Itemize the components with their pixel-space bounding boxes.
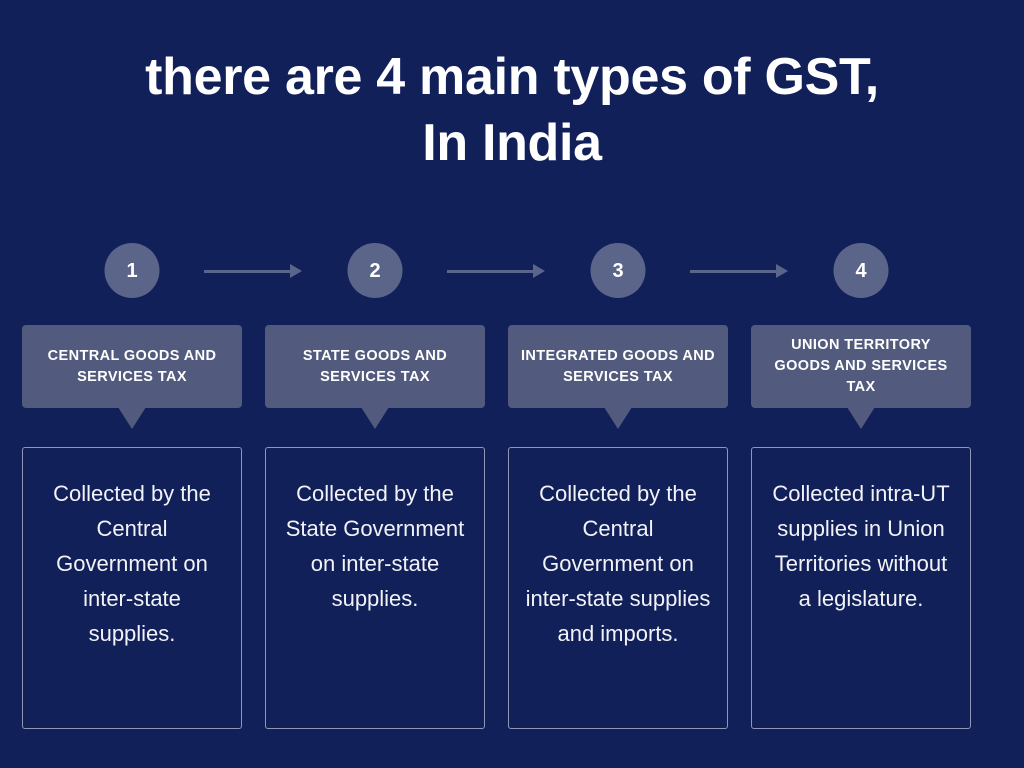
steps-row: 1 2 3 4	[22, 243, 971, 299]
card-body-text-1: Collected by the Central Government on i…	[37, 476, 227, 651]
card-header-1: CENTRAL GOODS AND SERVICES TAX	[22, 325, 242, 408]
column-state-gst: STATE GOODS AND SERVICES TAX Collected b…	[265, 325, 485, 408]
card-header-4: UNION TERRITORY GOODS AND SERVICES TAX	[751, 325, 971, 408]
title-line-2: In India	[60, 110, 964, 176]
step-circle-3: 3	[591, 243, 646, 298]
card-body-text-2: Collected by the State Government on int…	[280, 476, 470, 616]
step-circle-4: 4	[834, 243, 889, 298]
card-header-label-1: CENTRAL GOODS AND SERVICES TAX	[34, 346, 230, 388]
column-union-territory-gst: UNION TERRITORY GOODS AND SERVICES TAX C…	[751, 325, 971, 408]
card-tail-icon-1	[118, 407, 146, 429]
card-tail-icon-3	[604, 407, 632, 429]
title-line-1: there are 4 main types of GST,	[60, 44, 964, 110]
card-header-label-4: UNION TERRITORY GOODS AND SERVICES TAX	[763, 335, 959, 398]
card-header-3: INTEGRATED GOODS AND SERVICES TAX	[508, 325, 728, 408]
page-title: there are 4 main types of GST, In India	[0, 44, 1024, 176]
column-integrated-gst: INTEGRATED GOODS AND SERVICES TAX Collec…	[508, 325, 728, 408]
card-tail-icon-4	[847, 407, 875, 429]
columns-container: CENTRAL GOODS AND SERVICES TAX Collected…	[22, 325, 971, 729]
column-central-gst: CENTRAL GOODS AND SERVICES TAX Collected…	[22, 325, 242, 408]
card-body-4: Collected intra-UT supplies in Union Ter…	[751, 447, 971, 729]
card-tail-icon-2	[361, 407, 389, 429]
card-body-2: Collected by the State Government on int…	[265, 447, 485, 729]
card-body-1: Collected by the Central Government on i…	[22, 447, 242, 729]
card-body-3: Collected by the Central Government on i…	[508, 447, 728, 729]
card-header-label-3: INTEGRATED GOODS AND SERVICES TAX	[520, 346, 716, 388]
card-header-label-2: STATE GOODS AND SERVICES TAX	[277, 346, 473, 388]
step-circle-1: 1	[105, 243, 160, 298]
infographic-canvas: there are 4 main types of GST, In India …	[0, 0, 1024, 768]
card-header-2: STATE GOODS AND SERVICES TAX	[265, 325, 485, 408]
card-body-text-3: Collected by the Central Government on i…	[523, 476, 713, 651]
step-cell-4: 4	[751, 243, 971, 299]
card-body-text-4: Collected intra-UT supplies in Union Ter…	[766, 476, 956, 616]
step-circle-2: 2	[348, 243, 403, 298]
